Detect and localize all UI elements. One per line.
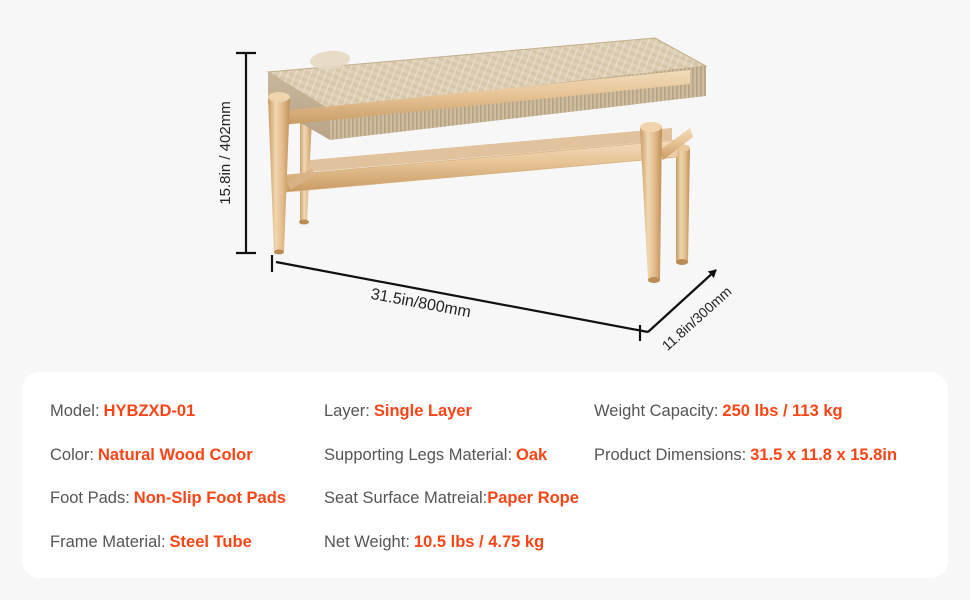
spec-label: Layer:	[324, 402, 370, 420]
spec-value: HYBZXD-01	[104, 402, 196, 420]
spec-row: Product Dimensions:31.5 x 11.8 x 15.8in	[594, 434, 934, 478]
spec-row: Weight Capacity:250 lbs / 113 kg	[594, 390, 934, 434]
height-dimension-label: 15.8in / 402mm	[217, 101, 234, 204]
spec-label: Foot Pads:	[50, 489, 130, 507]
dimension-callouts: 15.8in / 402mm 31.5in/800mm 11.8in/300mm	[0, 0, 970, 372]
spec-value: 31.5 x 11.8 x 15.8in	[750, 446, 897, 464]
spec-value: Single Layer	[374, 402, 472, 420]
spec-label: Net Weight:	[324, 533, 410, 551]
spec-row: Foot Pads:Non-Slip Foot Pads	[50, 477, 328, 521]
depth-dimension: 11.8in/300mm	[648, 270, 735, 354]
spec-column-2: Layer:Single Layer Supporting Legs Mater…	[324, 390, 596, 564]
spec-value: Non-Slip Foot Pads	[134, 489, 286, 507]
specification-card: Model:HYBZXD-01 Color:Natural Wood Color…	[22, 372, 948, 578]
spec-row: Layer:Single Layer	[324, 390, 596, 434]
spec-label: Color:	[50, 446, 94, 464]
spec-label: Seat Surface Matreial:	[324, 489, 487, 507]
width-dimension: 31.5in/800mm	[272, 255, 648, 341]
spec-row: Net Weight:10.5 lbs / 4.75 kg	[324, 521, 596, 565]
spec-column-1: Model:HYBZXD-01 Color:Natural Wood Color…	[50, 390, 328, 564]
spec-label: Frame Material:	[50, 533, 166, 551]
spec-value: Oak	[516, 446, 547, 464]
spec-value: Paper Rope	[487, 489, 579, 507]
spec-row: Frame Material:Steel Tube	[50, 521, 328, 565]
spec-label: Supporting Legs Material:	[324, 446, 512, 464]
spec-row: Model:HYBZXD-01	[50, 390, 328, 434]
spec-label: Product Dimensions:	[594, 446, 746, 464]
spec-label: Weight Capacity:	[594, 402, 718, 420]
spec-value: Natural Wood Color	[98, 446, 253, 464]
height-dimension: 15.8in / 402mm	[217, 53, 256, 253]
depth-dimension-label: 11.8in/300mm	[659, 283, 735, 354]
width-dimension-label: 31.5in/800mm	[369, 286, 472, 321]
spec-column-3: Weight Capacity:250 lbs / 113 kg Product…	[594, 390, 934, 477]
spec-value: 10.5 lbs / 4.75 kg	[414, 533, 544, 551]
spec-value: Steel Tube	[170, 533, 252, 551]
spec-value: 250 lbs / 113 kg	[722, 402, 842, 420]
spec-label: Model:	[50, 402, 100, 420]
spec-row: Color:Natural Wood Color	[50, 434, 328, 478]
spec-row: Supporting Legs Material:Oak	[324, 434, 596, 478]
spec-row: Seat Surface Matreial:Paper Rope	[324, 477, 596, 521]
product-image-area: 15.8in / 402mm 31.5in/800mm 11.8in/300mm	[0, 0, 970, 372]
